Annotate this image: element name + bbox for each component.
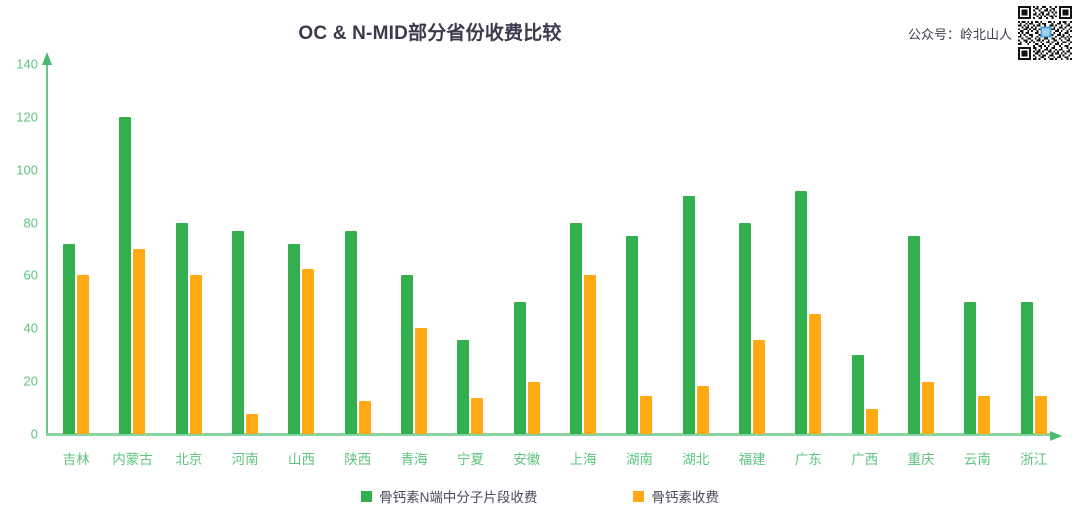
bar-0[interactable]	[852, 355, 864, 434]
bar-group	[48, 60, 104, 434]
bar-1[interactable]	[978, 396, 990, 434]
x-tick-label: 宁夏	[442, 448, 498, 468]
x-tick-label: 湖北	[668, 448, 724, 468]
bar-1[interactable]	[809, 314, 821, 434]
bar-group	[217, 60, 273, 434]
bar-group	[837, 60, 893, 434]
x-tick-label: 内蒙古	[104, 448, 160, 468]
bar-group	[668, 60, 724, 434]
x-tick-label: 陕西	[330, 448, 386, 468]
y-tick-label: 0	[31, 427, 38, 442]
y-tick-label: 120	[16, 109, 38, 124]
bar-1[interactable]	[246, 414, 258, 434]
bar-1[interactable]	[697, 386, 709, 434]
bar-0[interactable]	[345, 231, 357, 435]
y-tick-label: 60	[24, 268, 38, 283]
x-tick-label: 上海	[555, 448, 611, 468]
brand-watermark: 公众号：岭北山人	[908, 6, 1072, 60]
bar-group	[104, 60, 160, 434]
bar-1[interactable]	[640, 396, 652, 434]
bar-0[interactable]	[964, 302, 976, 434]
legend-swatch-icon	[633, 491, 644, 502]
legend-label: 骨钙素N端中分子片段收费	[379, 486, 537, 506]
bar-group	[893, 60, 949, 434]
legend-label: 骨钙素收费	[651, 486, 719, 506]
bar-1[interactable]	[866, 409, 878, 434]
x-tick-label: 吉林	[48, 448, 104, 468]
bar-1[interactable]	[302, 269, 314, 434]
y-tick-label: 80	[24, 215, 38, 230]
bar-0[interactable]	[1021, 302, 1033, 434]
brand-label: 公众号：岭北山人	[908, 24, 1012, 43]
x-tick-label: 浙江	[1006, 448, 1062, 468]
bar-0[interactable]	[176, 223, 188, 434]
x-tick-label: 北京	[161, 448, 217, 468]
bar-1[interactable]	[415, 328, 427, 434]
bar-group	[724, 60, 780, 434]
x-tick-label: 安徽	[499, 448, 555, 468]
bar-0[interactable]	[288, 244, 300, 434]
bar-0[interactable]	[683, 196, 695, 434]
x-tick-label: 青海	[386, 448, 442, 468]
legend-swatch-icon	[361, 491, 372, 502]
bar-0[interactable]	[739, 223, 751, 434]
bar-0[interactable]	[626, 236, 638, 434]
bar-0[interactable]	[119, 117, 131, 434]
bar-group	[161, 60, 217, 434]
bar-0[interactable]	[795, 191, 807, 434]
legend-item[interactable]: 骨钙素N端中分子片段收费	[361, 486, 537, 506]
x-tick-label: 云南	[949, 448, 1005, 468]
bar-group	[780, 60, 836, 434]
chart-title: OC & N-MID部分省份收费比较	[0, 18, 860, 45]
bar-group	[611, 60, 667, 434]
qr-code-icon	[1018, 6, 1072, 60]
bar-group	[386, 60, 442, 434]
x-tick-label: 河南	[217, 448, 273, 468]
bar-group	[442, 60, 498, 434]
bar-1[interactable]	[922, 382, 934, 434]
plot-area: 140120100806040200	[46, 58, 1062, 438]
bar-1[interactable]	[528, 382, 540, 434]
x-tick-label: 重庆	[893, 448, 949, 468]
x-tick-label: 湖南	[611, 448, 667, 468]
bar-0[interactable]	[457, 340, 469, 434]
bar-0[interactable]	[401, 275, 413, 434]
x-axis-labels: 吉林内蒙古北京河南山西陕西青海宁夏安徽上海湖南湖北福建广东广西重庆云南浙江	[48, 448, 1062, 468]
y-tick-label: 20	[24, 374, 38, 389]
bar-1[interactable]	[133, 249, 145, 434]
bar-1[interactable]	[190, 275, 202, 434]
y-tick-label: 100	[16, 162, 38, 177]
bar-0[interactable]	[63, 244, 75, 434]
bar-1[interactable]	[77, 275, 89, 434]
y-tick-label: 40	[24, 321, 38, 336]
bar-1[interactable]	[584, 275, 596, 434]
bar-1[interactable]	[471, 398, 483, 434]
y-tick-label: 140	[16, 57, 38, 72]
bar-1[interactable]	[359, 401, 371, 434]
bar-group	[555, 60, 611, 434]
bar-group	[949, 60, 1005, 434]
x-tick-label: 山西	[273, 448, 329, 468]
bar-groups	[48, 60, 1062, 434]
bar-group	[330, 60, 386, 434]
bar-group	[1006, 60, 1062, 434]
bar-0[interactable]	[908, 236, 920, 434]
bar-0[interactable]	[232, 231, 244, 435]
bar-chart: OC & N-MID部分省份收费比较 公众号：岭北山人	[0, 0, 1080, 511]
bar-1[interactable]	[1035, 396, 1047, 434]
bar-0[interactable]	[514, 302, 526, 434]
chart-legend: 骨钙素N端中分子片段收费骨钙素收费	[0, 486, 1080, 506]
bar-1[interactable]	[753, 340, 765, 434]
x-tick-label: 广东	[780, 448, 836, 468]
bar-group	[273, 60, 329, 434]
bar-group	[499, 60, 555, 434]
legend-item[interactable]: 骨钙素收费	[633, 486, 719, 506]
bar-0[interactable]	[570, 223, 582, 434]
x-tick-label: 福建	[724, 448, 780, 468]
x-tick-label: 广西	[837, 448, 893, 468]
